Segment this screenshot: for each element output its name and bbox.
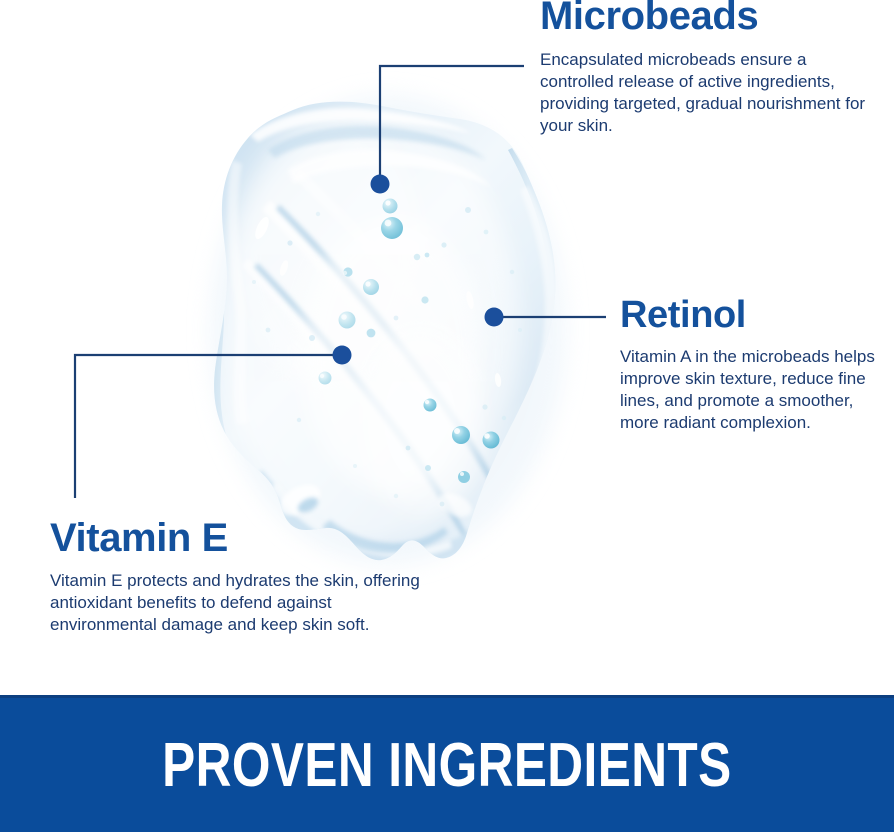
callout-microbeads: Microbeads Encapsulated microbeads ensur…	[540, 0, 880, 137]
infographic-canvas: Microbeads Encapsulated microbeads ensur…	[0, 0, 894, 832]
callout-retinol: Retinol Vitamin A in the microbeads help…	[620, 296, 882, 434]
callout-vitamin-e: Vitamin E Vitamin E protects and hydrate…	[50, 518, 430, 636]
leader-retinol	[485, 308, 607, 327]
callout-vitamin-e-body: Vitamin E protects and hydrates the skin…	[50, 570, 430, 636]
callout-retinol-title: Retinol	[620, 296, 882, 334]
callout-retinol-body: Vitamin A in the microbeads helps improv…	[620, 346, 882, 434]
callout-microbeads-title: Microbeads	[540, 0, 880, 36]
leader-vitamin-e	[75, 346, 352, 499]
callout-microbeads-body: Encapsulated microbeads ensure a control…	[540, 49, 880, 137]
banner-title: PROVEN INGREDIENTS	[162, 730, 731, 801]
leader-microbeads	[371, 66, 525, 194]
callout-vitamin-e-title: Vitamin E	[50, 518, 430, 558]
proven-ingredients-banner: PROVEN INGREDIENTS	[0, 695, 894, 832]
